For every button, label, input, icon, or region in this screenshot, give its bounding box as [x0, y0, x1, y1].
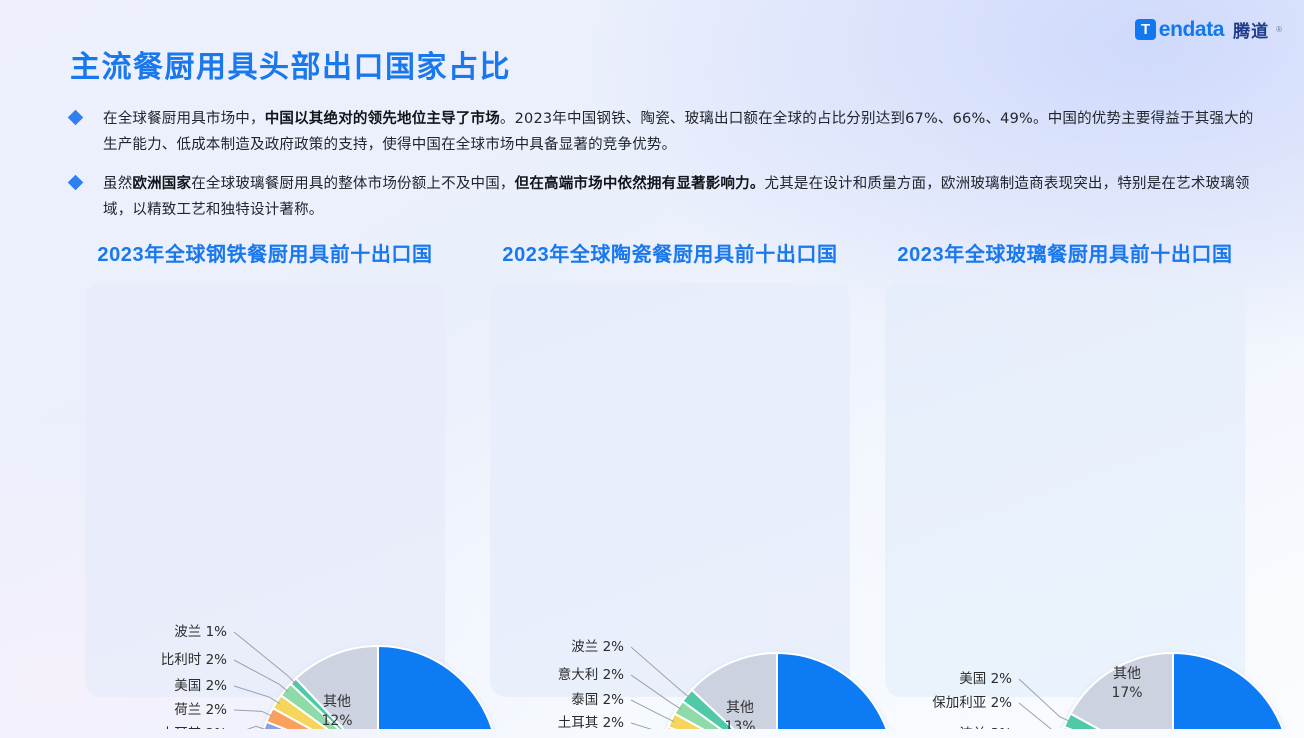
- svg-text:美国 2%: 美国 2%: [174, 678, 227, 694]
- bullet-item: 在全球餐厨用具市场中，中国以其绝对的领先地位主导了市场。2023年中国钢铁、陶瓷…: [70, 106, 1260, 158]
- pie-chart-glass[interactable]: 中国49%其他17%美国 2%保加利亚 2%波兰 3%荷兰 3%意大利 3%土耳…: [827, 249, 1303, 729]
- diamond-bullet-icon: [68, 110, 84, 126]
- svg-text:波兰 3%: 波兰 3%: [959, 726, 1012, 729]
- svg-text:美国 2%: 美国 2%: [959, 671, 1012, 687]
- svg-text:泰国 2%: 泰国 2%: [571, 692, 624, 708]
- page-title: 主流餐厨用具头部出口国家占比: [70, 42, 511, 86]
- chart-panel-steel: 2023年全球钢铁餐厨用具前十出口国 中国67%其他12%波兰 1%比利时 2%…: [65, 238, 465, 697]
- svg-text:其他: 其他: [726, 700, 754, 716]
- tendata-mark-icon: T: [1135, 19, 1156, 40]
- svg-text:意大利 2%: 意大利 2%: [558, 666, 624, 683]
- chart-card-steel: 中国67%其他12%波兰 1%比利时 2%美国 2%荷兰 2%土耳其 2%法国 …: [85, 283, 445, 697]
- chart-panel-glass: 2023年全球玻璃餐厨用具前十出口国 中国49%其他17%美国 2%保加利亚 2…: [865, 238, 1265, 697]
- svg-text:波兰 1%: 波兰 1%: [174, 624, 227, 640]
- svg-text:土耳其 2%: 土耳其 2%: [558, 715, 624, 729]
- bullet-item: 虽然欧洲国家在全球玻璃餐厨用具的整体市场份额上不及中国，但在高端市场中依然拥有显…: [70, 171, 1260, 223]
- summary-bullets: 在全球餐厨用具市场中，中国以其绝对的领先地位主导了市场。2023年中国钢铁、陶瓷…: [70, 106, 1260, 236]
- svg-text:荷兰 2%: 荷兰 2%: [174, 702, 227, 718]
- diamond-bullet-icon: [68, 175, 84, 191]
- chart-card-ceramic: 中国66%其他13%波兰 2%意大利 2%泰国 2%土耳其 2%英国 2%荷兰 …: [490, 283, 850, 697]
- bullet-text: 在全球餐厨用具市场中，中国以其绝对的领先地位主导了市场。2023年中国钢铁、陶瓷…: [103, 106, 1260, 158]
- trademark-icon: ®: [1276, 25, 1282, 34]
- brand-chinese-name: 腾道: [1233, 17, 1269, 42]
- chart-panel-ceramic: 2023年全球陶瓷餐厨用具前十出口国 中国66%其他13%波兰 2%意大利 2%…: [470, 238, 870, 697]
- bullet-text: 虽然欧洲国家在全球玻璃餐厨用具的整体市场份额上不及中国，但在高端市场中依然拥有显…: [103, 171, 1260, 223]
- svg-text:13%: 13%: [724, 719, 755, 729]
- svg-text:比利时 2%: 比利时 2%: [161, 652, 227, 668]
- svg-text:土耳其 2%: 土耳其 2%: [161, 726, 227, 729]
- svg-text:其他: 其他: [323, 694, 351, 710]
- svg-text:波兰 2%: 波兰 2%: [571, 639, 624, 655]
- svg-text:其他: 其他: [1113, 666, 1141, 682]
- brand-wordmark: endata: [1159, 18, 1224, 42]
- svg-text:12%: 12%: [321, 713, 352, 729]
- chart-card-glass: 中国49%其他17%美国 2%保加利亚 2%波兰 3%荷兰 3%意大利 3%土耳…: [885, 283, 1245, 697]
- svg-text:保加利亚 2%: 保加利亚 2%: [932, 695, 1012, 711]
- brand-logo: T endata 腾道 ®: [1135, 17, 1282, 42]
- svg-text:17%: 17%: [1111, 685, 1142, 701]
